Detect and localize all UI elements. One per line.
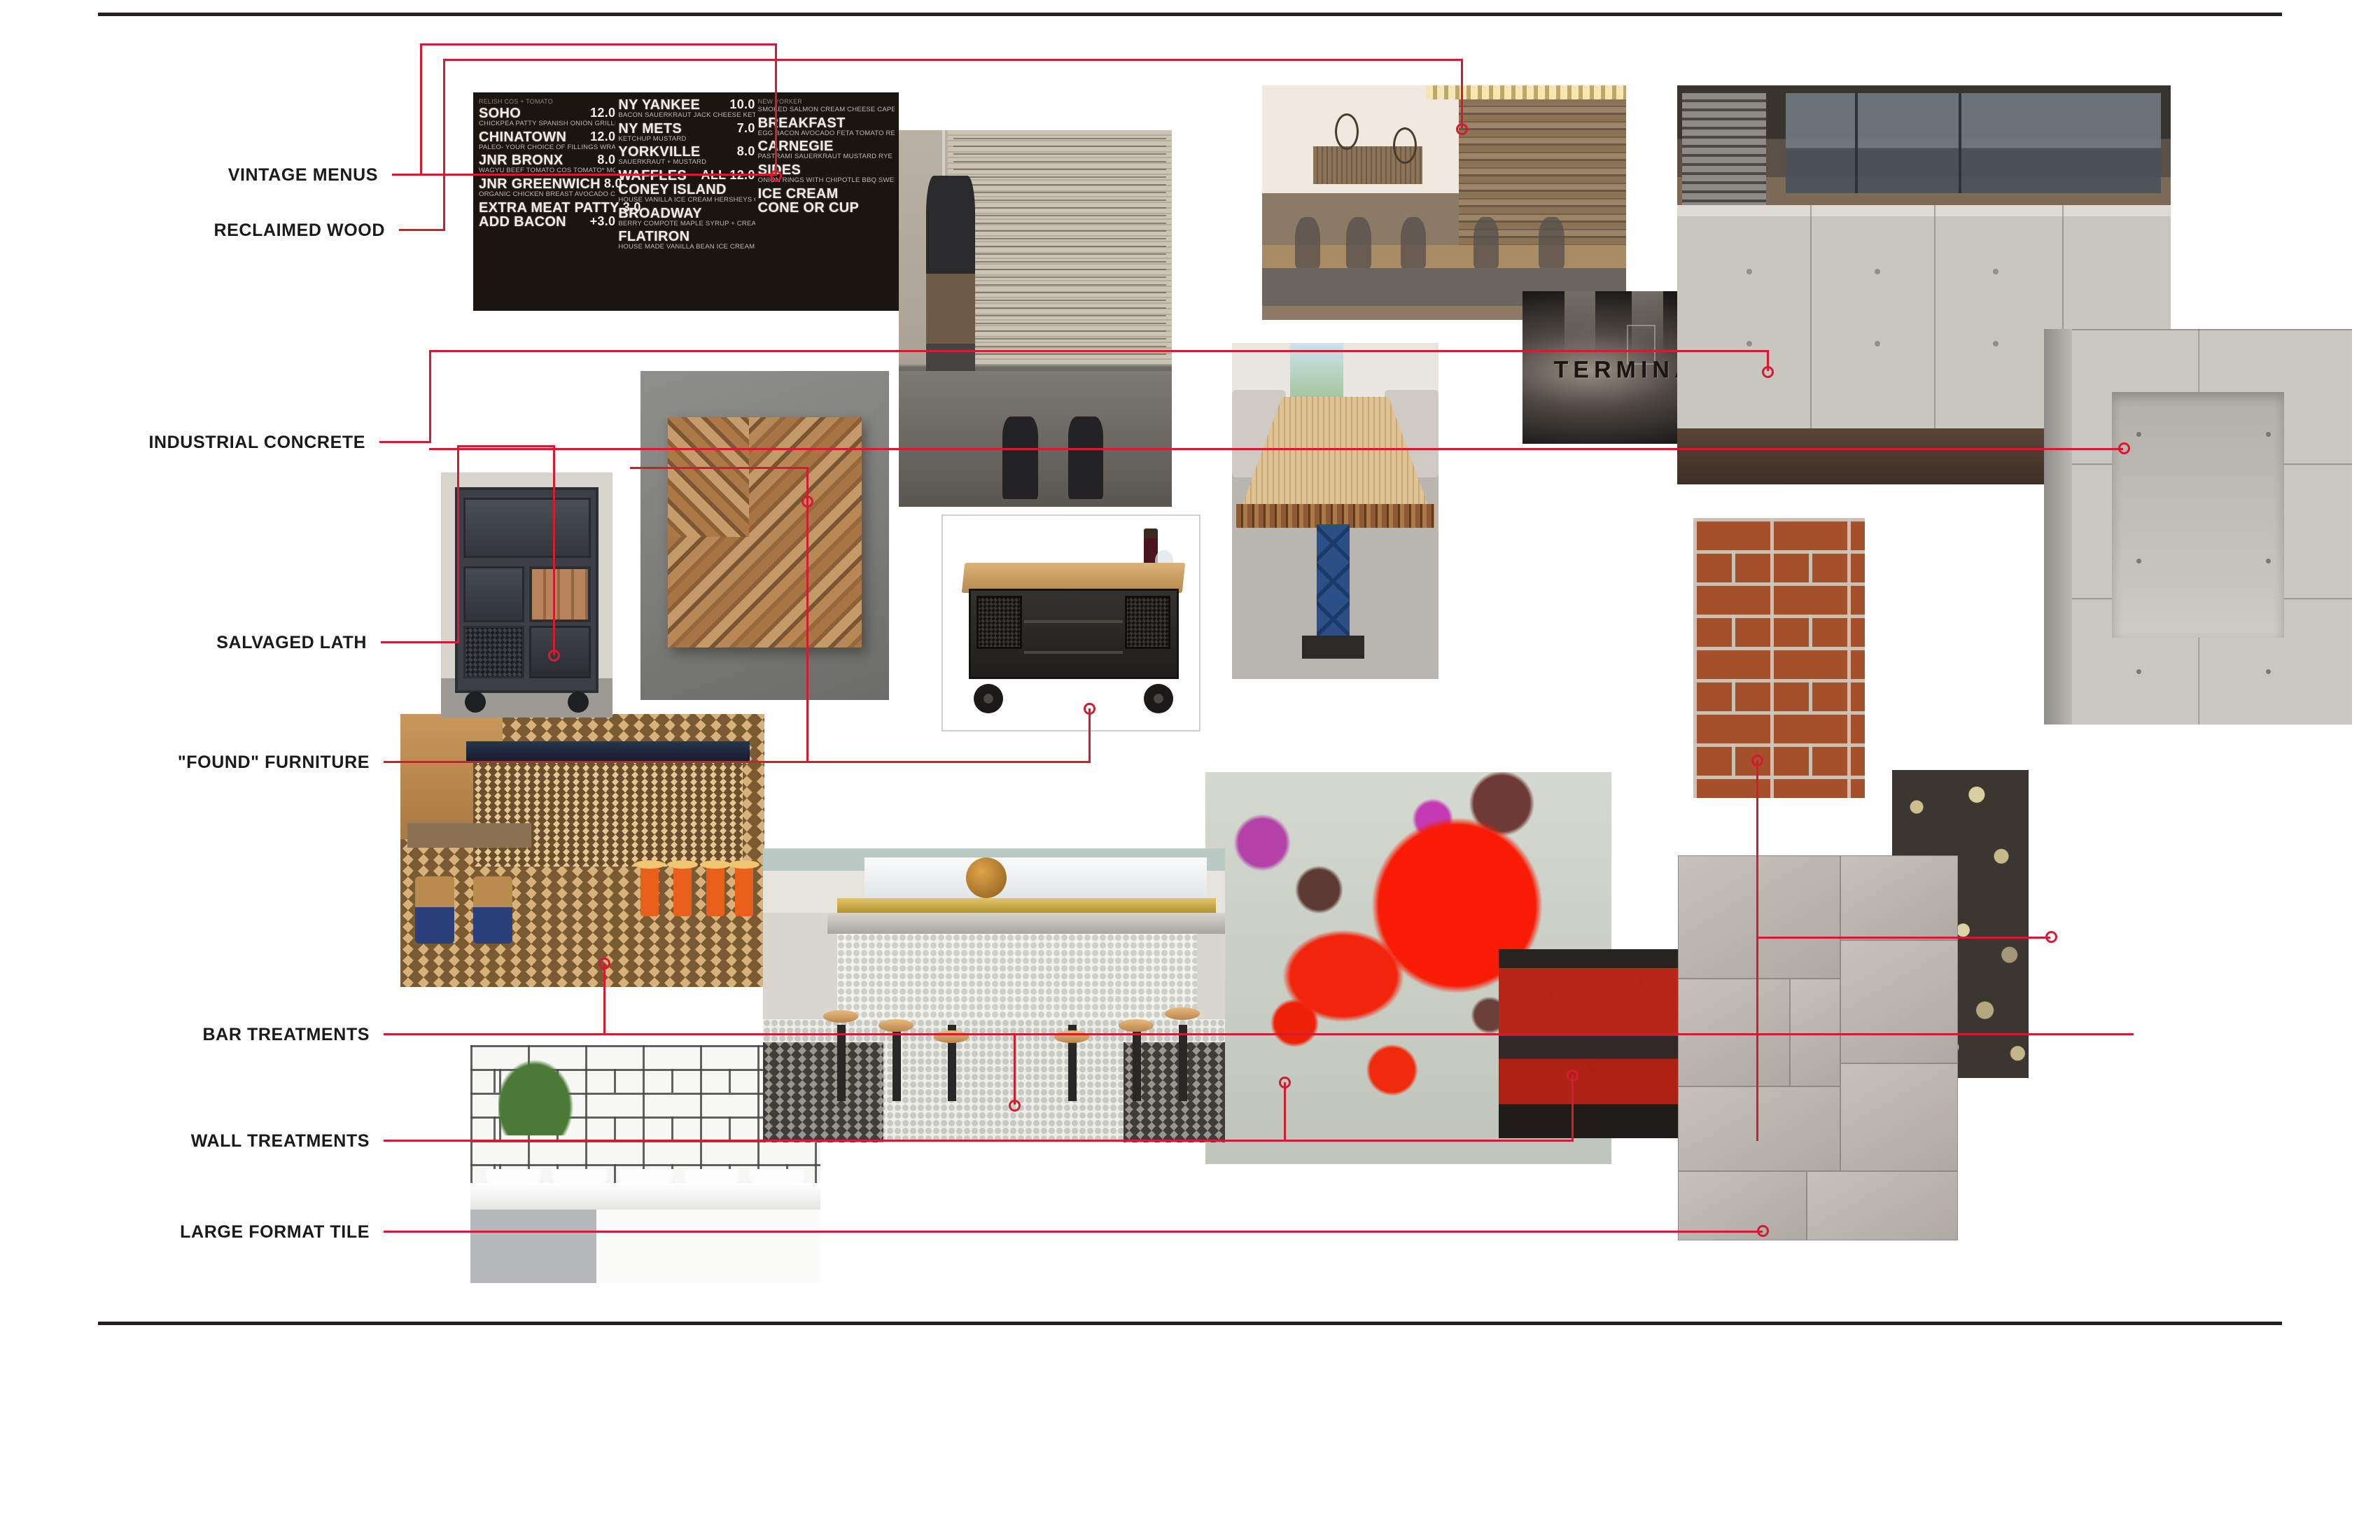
wood-stool-seat <box>823 1010 858 1023</box>
leader-line <box>1756 760 1758 1141</box>
form-tie-hole <box>2266 432 2271 437</box>
form-tie-hole <box>2266 559 2271 563</box>
leader-line <box>420 43 422 174</box>
callout-reclaimed-wood: RECLAIMED WOOD <box>214 222 386 239</box>
menu-item-name: BROADWAY <box>618 206 701 220</box>
leader-endpoint <box>770 170 782 182</box>
open-mid-shelf <box>463 566 524 622</box>
menu-item-desc: BERRY COMPOTE MAPLE SYRUP + CREAM <box>618 220 755 228</box>
menu-item-price: 12.0 <box>590 130 615 144</box>
bar-base-tile <box>473 747 743 867</box>
salvaged-lath-panel <box>529 566 590 622</box>
cart-shelf <box>1024 620 1123 623</box>
photo-large-format-grey-tile <box>1678 855 1958 1240</box>
menu-item-desc: HOUSE VANILLA ICE CREAM HERSHEYS CHOCOLA… <box>618 197 755 204</box>
menu-item-name: NY YANKEE <box>618 98 700 112</box>
menu-item-desc: PASTRAMI SAUERKRAUT MUSTARD RYE BAGEL <box>758 153 895 161</box>
keg-shelving <box>1682 93 1766 205</box>
tile-unit <box>1840 1063 1958 1171</box>
callout-bar-treatments: BAR TREATMENTS <box>203 1026 370 1044</box>
photo-diamond-tile-bar <box>400 714 764 987</box>
seated-guest <box>1346 217 1371 269</box>
greens-produce <box>498 1045 589 1135</box>
menu-item-desc: ORGANIC CHICKEN BREAST AVOCADO CORN SALS… <box>479 191 615 199</box>
menu-item-desc: PALEO- YOUR CHOICE OF FILLINGS WRAPPED I… <box>479 144 615 152</box>
photo-oyster-bar-penny-tile <box>763 848 1225 1142</box>
menu-col3-pre-desc: SMOKED SALMON CREAM CHEESE CAPERS RED ON… <box>758 106 895 114</box>
leader-line <box>457 445 459 643</box>
form-tie-hole <box>1993 341 1998 346</box>
wine-list-rows <box>953 138 1166 356</box>
blue-leg-chair <box>473 876 512 944</box>
footer: HMS H O S T LAUNDRY GROUP DESIGN Baltimo… <box>0 1333 2380 1540</box>
form-tie-hole <box>1875 341 1880 346</box>
leader-line <box>1284 1082 1286 1141</box>
photo-vintage-chalkboard-menu: RELISH COS + TOMATO SOHO12.0 CHICKPEA PA… <box>473 92 899 311</box>
form-tie-hole <box>2136 669 2141 674</box>
dining-table <box>407 823 531 848</box>
steel-cart-frame <box>969 589 1179 679</box>
leader-line <box>1571 1075 1574 1141</box>
menu-item-name: CONEY ISLAND <box>618 183 726 197</box>
leader-endpoint <box>1567 1070 1578 1081</box>
menu-item-name: CHINATOWN <box>479 130 566 144</box>
open-top-shelf <box>463 498 591 558</box>
pendant-lamp <box>1335 113 1359 150</box>
leader-line <box>384 761 1091 763</box>
form-tie-hole <box>1746 269 1752 274</box>
wall-spotlight <box>1564 291 1596 356</box>
leader-line <box>1088 708 1091 763</box>
window-mullion <box>1959 93 1961 193</box>
callout-found-furniture: "FOUND" FURNITURE <box>178 754 370 771</box>
cast-iron-wheel <box>974 684 1003 713</box>
stool-column <box>837 1025 846 1101</box>
leader-line <box>384 1140 1574 1142</box>
photo-communal-slat-table <box>1232 343 1438 679</box>
menu-item-desc: CHICKPEA PATTY SPANISH ONION GRILLED ZUC… <box>479 120 615 128</box>
leader-endpoint <box>1279 1077 1291 1088</box>
menu-item-price: 8.0 <box>737 145 755 159</box>
leader-line <box>775 43 777 176</box>
menu-item-name: JNR BRONX <box>479 153 563 167</box>
menu-item-name: ADD BACON <box>479 215 566 229</box>
menu-item-desc: SAUERKRAUT + MUSTARD <box>618 159 755 167</box>
kitchen-staff <box>1068 416 1104 499</box>
zinc-bar-counter <box>827 913 1225 933</box>
menu-item-name: YORKVILLE <box>618 145 700 159</box>
wood-stool-seat <box>1165 1007 1200 1020</box>
seated-guest <box>1473 217 1499 269</box>
wall-recess <box>2112 392 2284 637</box>
leader-endpoint <box>2118 442 2130 454</box>
leader-line <box>443 59 1463 61</box>
menu-item-name: NY METS <box>618 122 682 136</box>
menu-column-2: NY YANKEE10.0 BACON SAUERKRAUT JACK CHEE… <box>618 98 755 308</box>
form-tie-hole <box>2136 559 2141 563</box>
seated-guest <box>1295 217 1320 269</box>
brass-rail-trim <box>837 898 1216 913</box>
leader-line <box>1756 937 2050 939</box>
caster-wheel <box>465 692 486 713</box>
tile-unit <box>1678 855 1840 979</box>
photo-exposed-brick-texture <box>1693 518 1865 798</box>
marble-counter <box>470 1183 820 1209</box>
concrete-seam <box>1934 205 1935 428</box>
orange-bar-stool <box>735 864 753 916</box>
menu-item-desc: BACON SAUERKRAUT JACK CHEESE KETCHUP MUS… <box>618 112 755 120</box>
leader-line <box>379 441 431 443</box>
menu-column-3: NEW YORKER SMOKED SALMON CREAM CHEESE CA… <box>758 98 895 308</box>
tile-unit <box>1678 1086 1840 1171</box>
menu-col3-pre: NEW YORKER <box>758 98 895 105</box>
leader-line <box>429 350 431 442</box>
panel-edge-return <box>2044 329 2072 724</box>
tile-unit <box>1840 940 1958 1063</box>
menu-col1-pre: RELISH COS + TOMATO <box>479 98 615 105</box>
tile-unit <box>1807 1171 1958 1240</box>
leader-line <box>1461 59 1463 128</box>
menu-item-name: CONE OR CUP <box>758 201 859 215</box>
leader-line <box>420 43 777 45</box>
menu-item-name: EXTRA MEAT PATTY <box>479 201 619 215</box>
menu-item-price: 8.0 <box>597 153 615 167</box>
leader-line <box>399 229 445 231</box>
menu-item-price: 10.0 <box>729 98 755 112</box>
dark-patterned-floor <box>763 1042 883 1142</box>
callout-industrial-concrete: INDUSTRIAL CONCRETE <box>148 434 365 451</box>
photo-industrial-rolling-cart <box>941 514 1200 731</box>
leader-line <box>806 467 808 762</box>
menu-item-desc: EGG BACON AVOCADO FETA TOMATO RELISH PLA… <box>758 130 895 138</box>
mesh-cabinet-door <box>976 596 1022 649</box>
leader-endpoint <box>2045 931 2057 943</box>
iced-seafood-display <box>864 857 1206 902</box>
leader-endpoint <box>1456 123 1468 135</box>
glass-partition <box>1786 93 2161 193</box>
callout-wall-treatments: WALL TREATMENTS <box>191 1133 370 1150</box>
orange-bar-stool <box>640 864 659 916</box>
leader-line <box>630 467 808 469</box>
presentation-board: RELISH COS + TOMATO SOHO12.0 CHICKPEA PA… <box>0 0 2380 1540</box>
blue-leg-chair <box>415 876 454 944</box>
leader-line <box>457 445 555 447</box>
concrete-seam <box>1810 205 1812 428</box>
tile-unit <box>1840 855 1958 940</box>
leader-line <box>429 448 2123 450</box>
mesh-cabinet-door <box>1125 596 1170 649</box>
callout-salvaged-lath: SALVAGED LATH <box>216 634 367 652</box>
dark-tile-bartop <box>466 741 750 763</box>
leader-endpoint <box>548 650 560 661</box>
leader-endpoint <box>1009 1100 1021 1112</box>
menu-item-name: JNR GREENWICH <box>479 177 601 191</box>
leader-line <box>384 1231 1763 1233</box>
brick-offset-course <box>1693 518 1865 798</box>
leader-line <box>429 350 1769 352</box>
base-cabinets <box>470 1210 820 1283</box>
seated-guest <box>1539 217 1564 269</box>
menu-item-name: ICE CREAM <box>758 187 839 201</box>
leader-endpoint <box>1084 703 1095 715</box>
stool-column <box>892 1025 901 1101</box>
ceiling-light-strip <box>1426 85 1626 99</box>
leader-line <box>1014 1033 1016 1105</box>
wood-stool-seat <box>878 1019 913 1032</box>
chevron-wood-panel <box>668 417 862 647</box>
callout-large-format-tile: LARGE FORMAT TILE <box>180 1224 370 1241</box>
photo-salvaged-lath-steel-cabinet <box>441 472 612 717</box>
menu-item-name: FLATIRON <box>618 230 689 244</box>
steel-base-plate <box>1302 636 1364 659</box>
form-tie-hole <box>1746 341 1752 346</box>
leader-line <box>553 445 555 655</box>
menu-item-name: CARNEGIE <box>758 139 834 153</box>
menu-item-desc: HOUSE MADE VANILLA BEAN ICE CREAM <box>618 244 755 251</box>
orange-bar-stool <box>673 864 692 916</box>
steel-door <box>529 626 590 678</box>
orange-bar-stool <box>706 864 724 916</box>
top-rule <box>98 13 2282 16</box>
menu-item-price: 7.0 <box>737 122 755 136</box>
tile-unit <box>1790 979 1840 1086</box>
leader-endpoint <box>801 496 813 507</box>
form-tie-hole <box>2136 432 2141 437</box>
leader-endpoint <box>1762 366 1774 378</box>
menu-item-name: BREAKFAST <box>758 116 846 130</box>
bottom-rule <box>98 1322 2282 1325</box>
leader-line <box>384 1033 2134 1035</box>
window-mullion <box>1855 93 1858 193</box>
leader-line <box>443 59 445 231</box>
kitchen-staff <box>1002 416 1038 499</box>
leader-endpoint <box>598 958 610 969</box>
caster-wheel <box>568 692 589 713</box>
menu-item-price: 12.0 <box>590 106 615 120</box>
stool-column <box>1179 1025 1187 1101</box>
form-tie-hole <box>2266 669 2271 674</box>
leader-line <box>603 963 605 1035</box>
menu-column-1: RELISH COS + TOMATO SOHO12.0 CHICKPEA PA… <box>479 98 615 308</box>
photo-concrete-panel-wall <box>2044 329 2352 724</box>
leader-endpoint <box>1757 1225 1769 1237</box>
cabinet-body <box>455 487 599 693</box>
wood-stool-seat <box>1119 1019 1154 1032</box>
stool-column <box>1133 1025 1141 1101</box>
menu-item-price: +3.0 <box>590 215 616 229</box>
tile-unit <box>1678 979 1790 1086</box>
penny-tile-bar-face <box>837 934 1198 1028</box>
menu-item-name: SOHO <box>479 106 521 120</box>
wire-mesh-door <box>463 626 524 678</box>
menu-item-desc: KETCHUP MUSTARD <box>618 136 755 143</box>
leader-line <box>381 641 459 643</box>
leader-line <box>392 174 777 176</box>
leader-endpoint <box>1751 755 1763 766</box>
cart-shelf <box>1024 651 1123 654</box>
cast-iron-wheel <box>1144 684 1173 713</box>
photo-reclaimed-wood-wall-restaurant <box>1262 85 1626 320</box>
photo-wine-list-slat-wall <box>899 130 1172 507</box>
brass-diving-helmet <box>966 857 1007 898</box>
photo-chevron-reclaimed-wood-panel <box>640 371 889 700</box>
callout-vintage-menus: VINTAGE MENUS <box>228 167 378 184</box>
blue-steel-truss-leg <box>1317 524 1350 638</box>
seated-guest <box>1401 217 1426 269</box>
